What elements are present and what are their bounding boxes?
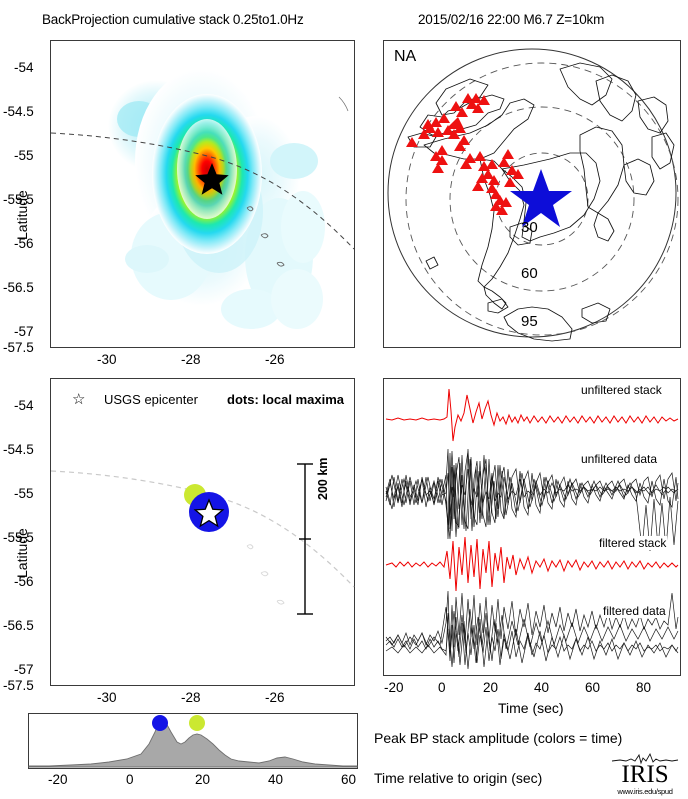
trace-label: filtered stack (598, 536, 667, 550)
ytick: -57.5 (3, 678, 34, 693)
xtick: 20 (195, 772, 210, 787)
iris-logo[interactable]: IRIS www.iris.edu/spud (612, 752, 678, 796)
waveform-xlabel: Time (sec) (498, 700, 564, 716)
seismogram-traces (384, 379, 680, 675)
xtick: 0 (438, 680, 446, 695)
peak-amplitude-histogram[interactable] (28, 713, 358, 769)
ytick: -57 (14, 662, 34, 677)
xtick: 40 (534, 680, 549, 695)
xtick: -20 (384, 680, 404, 695)
figure-title-left: BackProjection cumulative stack 0.25to1.… (42, 12, 304, 27)
ytick: -54 (14, 60, 34, 75)
backprojection-stack-map[interactable] (50, 40, 355, 348)
xtick: 80 (636, 680, 651, 695)
ring-label-60: 60 (521, 265, 538, 282)
ytick: -56 (14, 236, 34, 251)
xtick: -28 (181, 352, 201, 367)
xtick: 60 (585, 680, 600, 695)
maxima-plot (51, 379, 354, 685)
iris-url: www.iris.edu/spud (612, 787, 678, 796)
xtick: -26 (265, 352, 285, 367)
trace-label: unfiltered data (580, 452, 658, 466)
waveform-panel[interactable] (383, 378, 681, 676)
ytick: -54.5 (3, 104, 34, 119)
xtick: 60 (341, 772, 356, 787)
ytick: -54.5 (3, 442, 34, 457)
legend-epicenter-label: USGS epicenter (104, 392, 198, 407)
xtick: -28 (181, 690, 201, 705)
globe-region-label: NA (394, 48, 416, 66)
figure-title-right: 2015/02/16 22:00 M6.7 Z=10km (418, 12, 604, 27)
histogram-xlabel: Time relative to origin (sec) (374, 770, 542, 786)
trace-label: filtered data (602, 604, 667, 618)
ytick: -56 (14, 574, 34, 589)
ring-label-95: 95 (521, 313, 538, 330)
ytick: -56.5 (3, 618, 34, 633)
histogram-caption: Peak BP stack amplitude (colors = time) (374, 730, 622, 746)
ytick: -55 (14, 486, 34, 501)
scale-bar-label: 200 km (316, 458, 330, 500)
globe-map (384, 41, 680, 347)
local-maxima-map[interactable] (50, 378, 355, 686)
station-distribution-globe[interactable] (383, 40, 681, 348)
ytick: -57 (14, 324, 34, 339)
ytick: -57.5 (3, 340, 34, 355)
ytick: -54 (14, 398, 34, 413)
scale-bar (297, 464, 313, 614)
xtick: -30 (97, 690, 117, 705)
iris-wordmark: IRIS (612, 764, 678, 787)
ring-label-30: 30 (521, 219, 538, 236)
stack-heatmap (51, 41, 354, 347)
ytick: -56.5 (3, 280, 34, 295)
xtick: -20 (48, 772, 68, 787)
xtick: -30 (97, 352, 117, 367)
maxima-dot-early (152, 715, 168, 731)
amplitude-curve (29, 714, 357, 768)
maxima-dot-late (189, 715, 205, 731)
ytick: -55.5 (3, 530, 34, 545)
trace-filtered-data (386, 591, 678, 669)
trace-label: unfiltered stack (580, 383, 663, 397)
xtick: 40 (268, 772, 283, 787)
ytick: -55 (14, 148, 34, 163)
legend-epicenter-star-glyph: ☆ (72, 390, 85, 408)
xtick: 20 (483, 680, 498, 695)
station-markers (406, 93, 524, 215)
legend-maxima-label: dots: local maxima (227, 392, 344, 407)
ytick: -55.5 (3, 192, 34, 207)
xtick: -26 (265, 690, 285, 705)
xtick: 0 (126, 772, 134, 787)
